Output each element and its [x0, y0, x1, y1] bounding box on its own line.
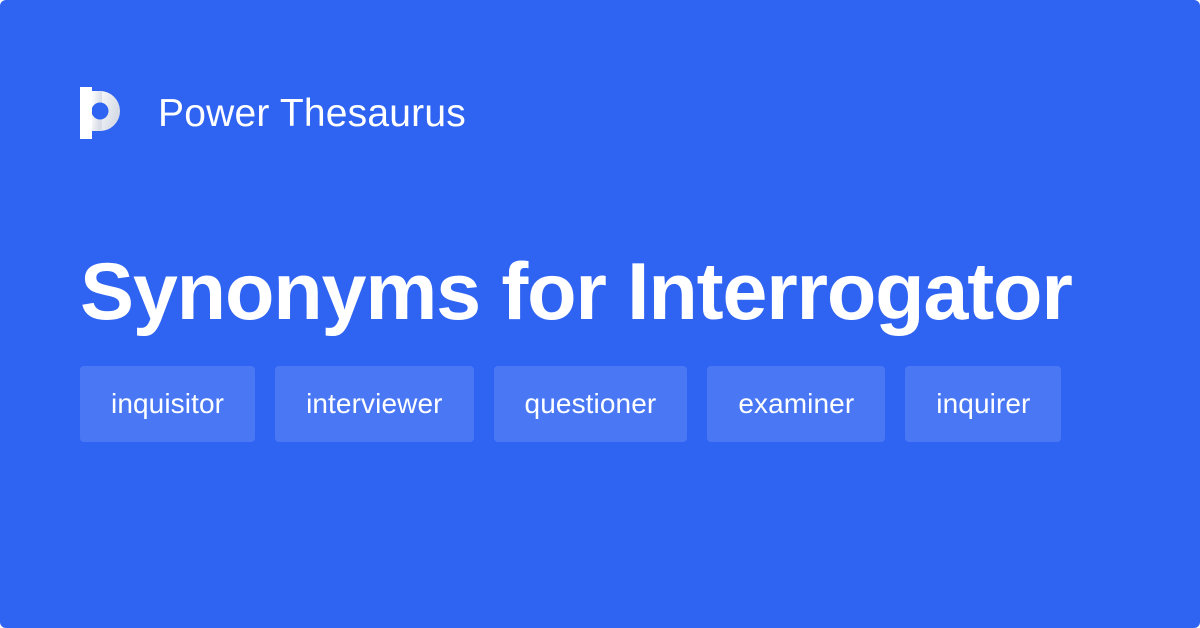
synonym-tag[interactable]: examiner: [707, 366, 885, 442]
thesaurus-share-card: power thesaurus Synonyms for Interrogato…: [0, 0, 1200, 628]
synonym-tag-list: inquisitor interviewer questioner examin…: [80, 366, 1130, 442]
brand-lockup[interactable]: power thesaurus: [80, 82, 466, 144]
synonym-tag[interactable]: interviewer: [275, 366, 473, 442]
synonym-tag[interactable]: inquisitor: [80, 366, 255, 442]
power-thesaurus-logo-icon: [80, 87, 126, 139]
page-title: Synonyms for Interrogator: [80, 250, 1140, 334]
synonym-tag[interactable]: questioner: [494, 366, 688, 442]
brand-name: power thesaurus: [158, 94, 466, 133]
synonym-tag[interactable]: inquirer: [905, 366, 1061, 442]
